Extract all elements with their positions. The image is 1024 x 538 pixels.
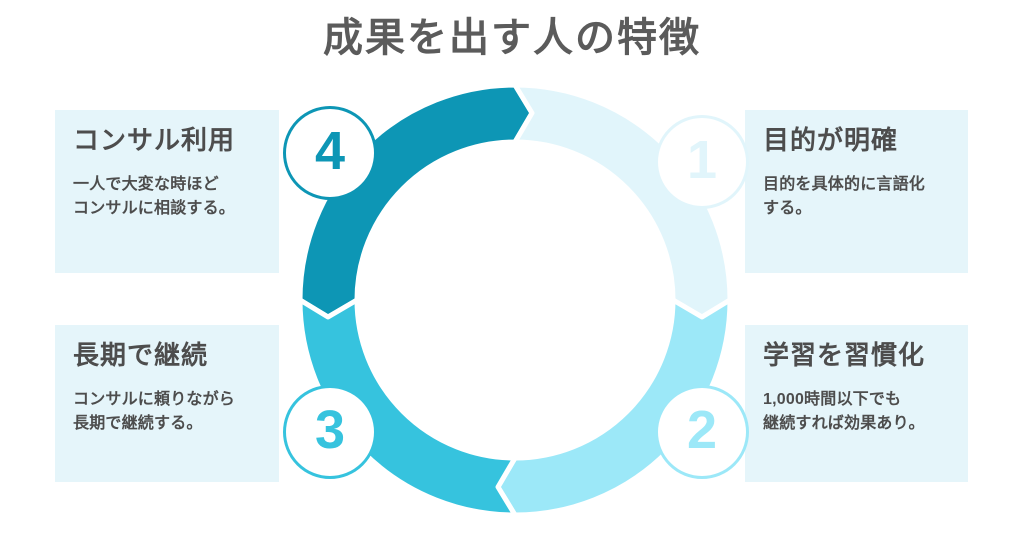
step-badge-3[interactable]: 3 bbox=[283, 385, 377, 479]
donut-center-hole bbox=[428, 213, 602, 387]
info-box-3-description: コンサルに頼りながら 長期で継続する。 bbox=[73, 388, 261, 438]
info-box-2[interactable]: 学習を習慣化 1,000時間以下でも 継続すれば効果あり。 bbox=[745, 325, 968, 482]
info-box-3[interactable]: 長期で継続 コンサルに頼りながら 長期で継続する。 bbox=[55, 325, 279, 482]
info-box-4[interactable]: コンサル利用 一人で大変な時ほど コンサルに相談する。 bbox=[55, 110, 279, 273]
info-box-1-heading: 目的が明確 bbox=[763, 124, 950, 157]
step-badge-1[interactable]: 1 bbox=[655, 115, 749, 209]
step-badge-4[interactable]: 4 bbox=[283, 106, 377, 200]
info-box-2-heading: 学習を習慣化 bbox=[763, 339, 950, 372]
page-title: 成果を出す人の特徴 bbox=[0, 14, 1024, 62]
info-box-1[interactable]: 目的が明確 目的を具体的に言語化 する。 bbox=[745, 110, 968, 273]
info-box-2-description: 1,000時間以下でも 継続すれば効果あり。 bbox=[763, 388, 950, 438]
info-box-1-description: 目的を具体的に言語化 する。 bbox=[763, 173, 950, 223]
info-box-4-description: 一人で大変な時ほど コンサルに相談する。 bbox=[73, 173, 261, 223]
info-box-4-heading: コンサル利用 bbox=[73, 124, 261, 157]
info-box-3-heading: 長期で継続 bbox=[73, 339, 261, 372]
step-badge-2[interactable]: 2 bbox=[655, 385, 749, 479]
